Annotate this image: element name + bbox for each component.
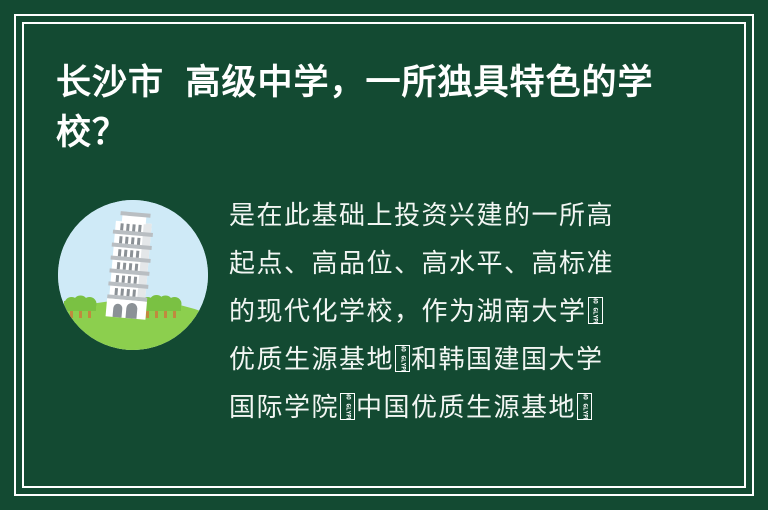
card-content: 是在此基础上投资兴建的一所高起点、高品位、高水平、高标准的现代化学校，作为湖南大… <box>0 192 768 472</box>
body-text-run: 国际学院 <box>229 393 339 423</box>
missing-glyph-icon: NO GLYPH <box>395 345 410 372</box>
body-text-run: 的现代化学校，作为湖南大学 <box>229 297 587 327</box>
leaning-tower-of-pisa-illustration <box>58 200 208 350</box>
missing-glyph-icon: NO GLYPH <box>588 297 603 324</box>
body-text-run: 起点、高品位、高水平、高标准 <box>229 249 614 279</box>
info-card: 长沙市 高级中学，一所独具特色的学校？ <box>0 0 768 510</box>
tower-illustration-svg <box>58 200 208 350</box>
missing-glyph-icon: NO GLYPH <box>340 393 355 420</box>
body-text-run: 优质生源基地 <box>229 345 394 375</box>
body-paragraph: 是在此基础上投资兴建的一所高起点、高品位、高水平、高标准的现代化学校，作为湖南大… <box>229 192 659 432</box>
missing-glyph-icon: NO GLYPH <box>577 393 592 420</box>
body-text-run: 是在此基础上投资兴建的一所高 <box>229 201 614 231</box>
body-text-run: 中国优质生源基地 <box>356 393 576 423</box>
page-title: 长沙市 高级中学，一所独具特色的学校？ <box>56 58 676 158</box>
body-text-run: 和韩国建国大学 <box>411 345 604 375</box>
